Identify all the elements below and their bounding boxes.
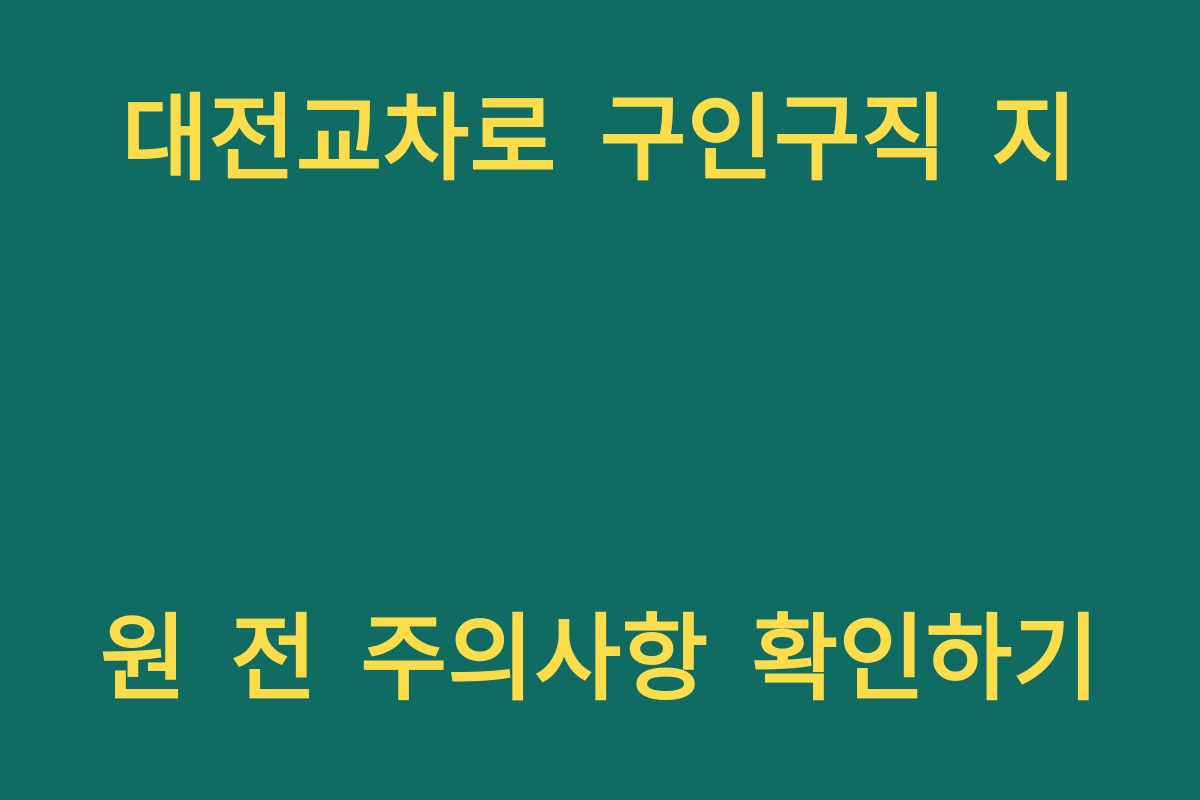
headline-line-1: 대전교차로 구인구직 지 bbox=[70, 75, 1130, 205]
headline-line-2: 원 전 주의사항 확인하기 bbox=[70, 595, 1130, 725]
text-banner: 대전교차로 구인구직 지 원 전 주의사항 확인하기 bbox=[0, 0, 1200, 800]
headline-text-block: 대전교차로 구인구직 지 원 전 주의사항 확인하기 bbox=[70, 0, 1130, 800]
